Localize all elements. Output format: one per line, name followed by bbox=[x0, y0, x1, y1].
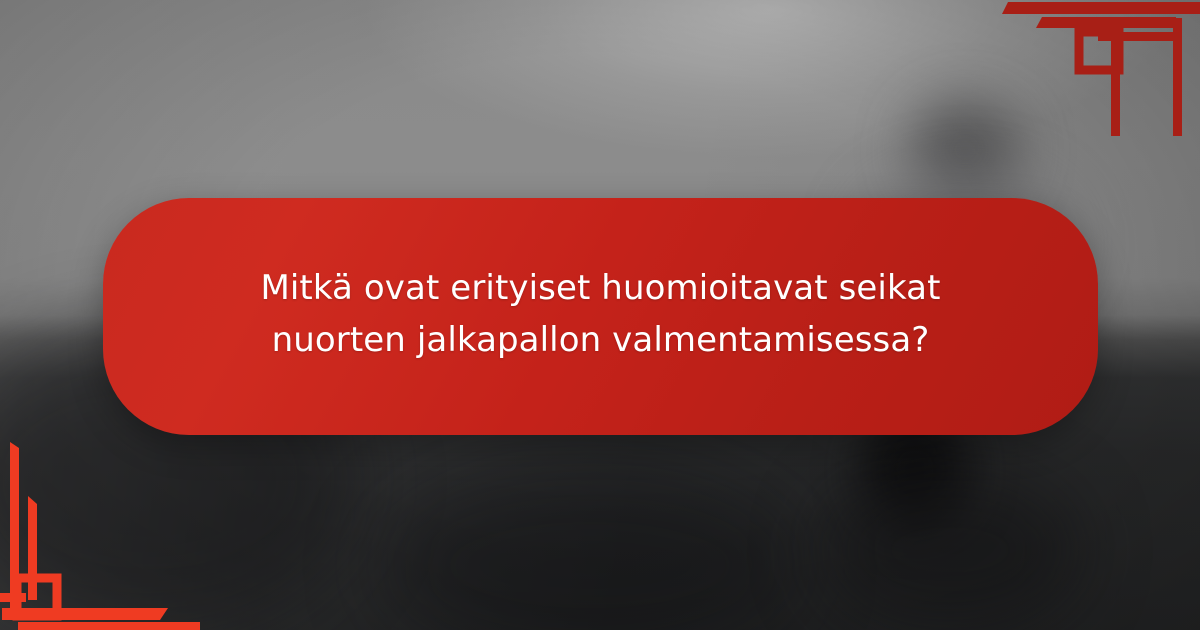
quote-text: Mitkä ovat erityiset huomioitavat seikat… bbox=[231, 263, 971, 366]
quote-card: Mitkä ovat erityiset huomioitavat seikat… bbox=[103, 198, 1098, 435]
quote-card-graphic: Mitkä ovat erityiset huomioitavat seikat… bbox=[0, 0, 1200, 630]
